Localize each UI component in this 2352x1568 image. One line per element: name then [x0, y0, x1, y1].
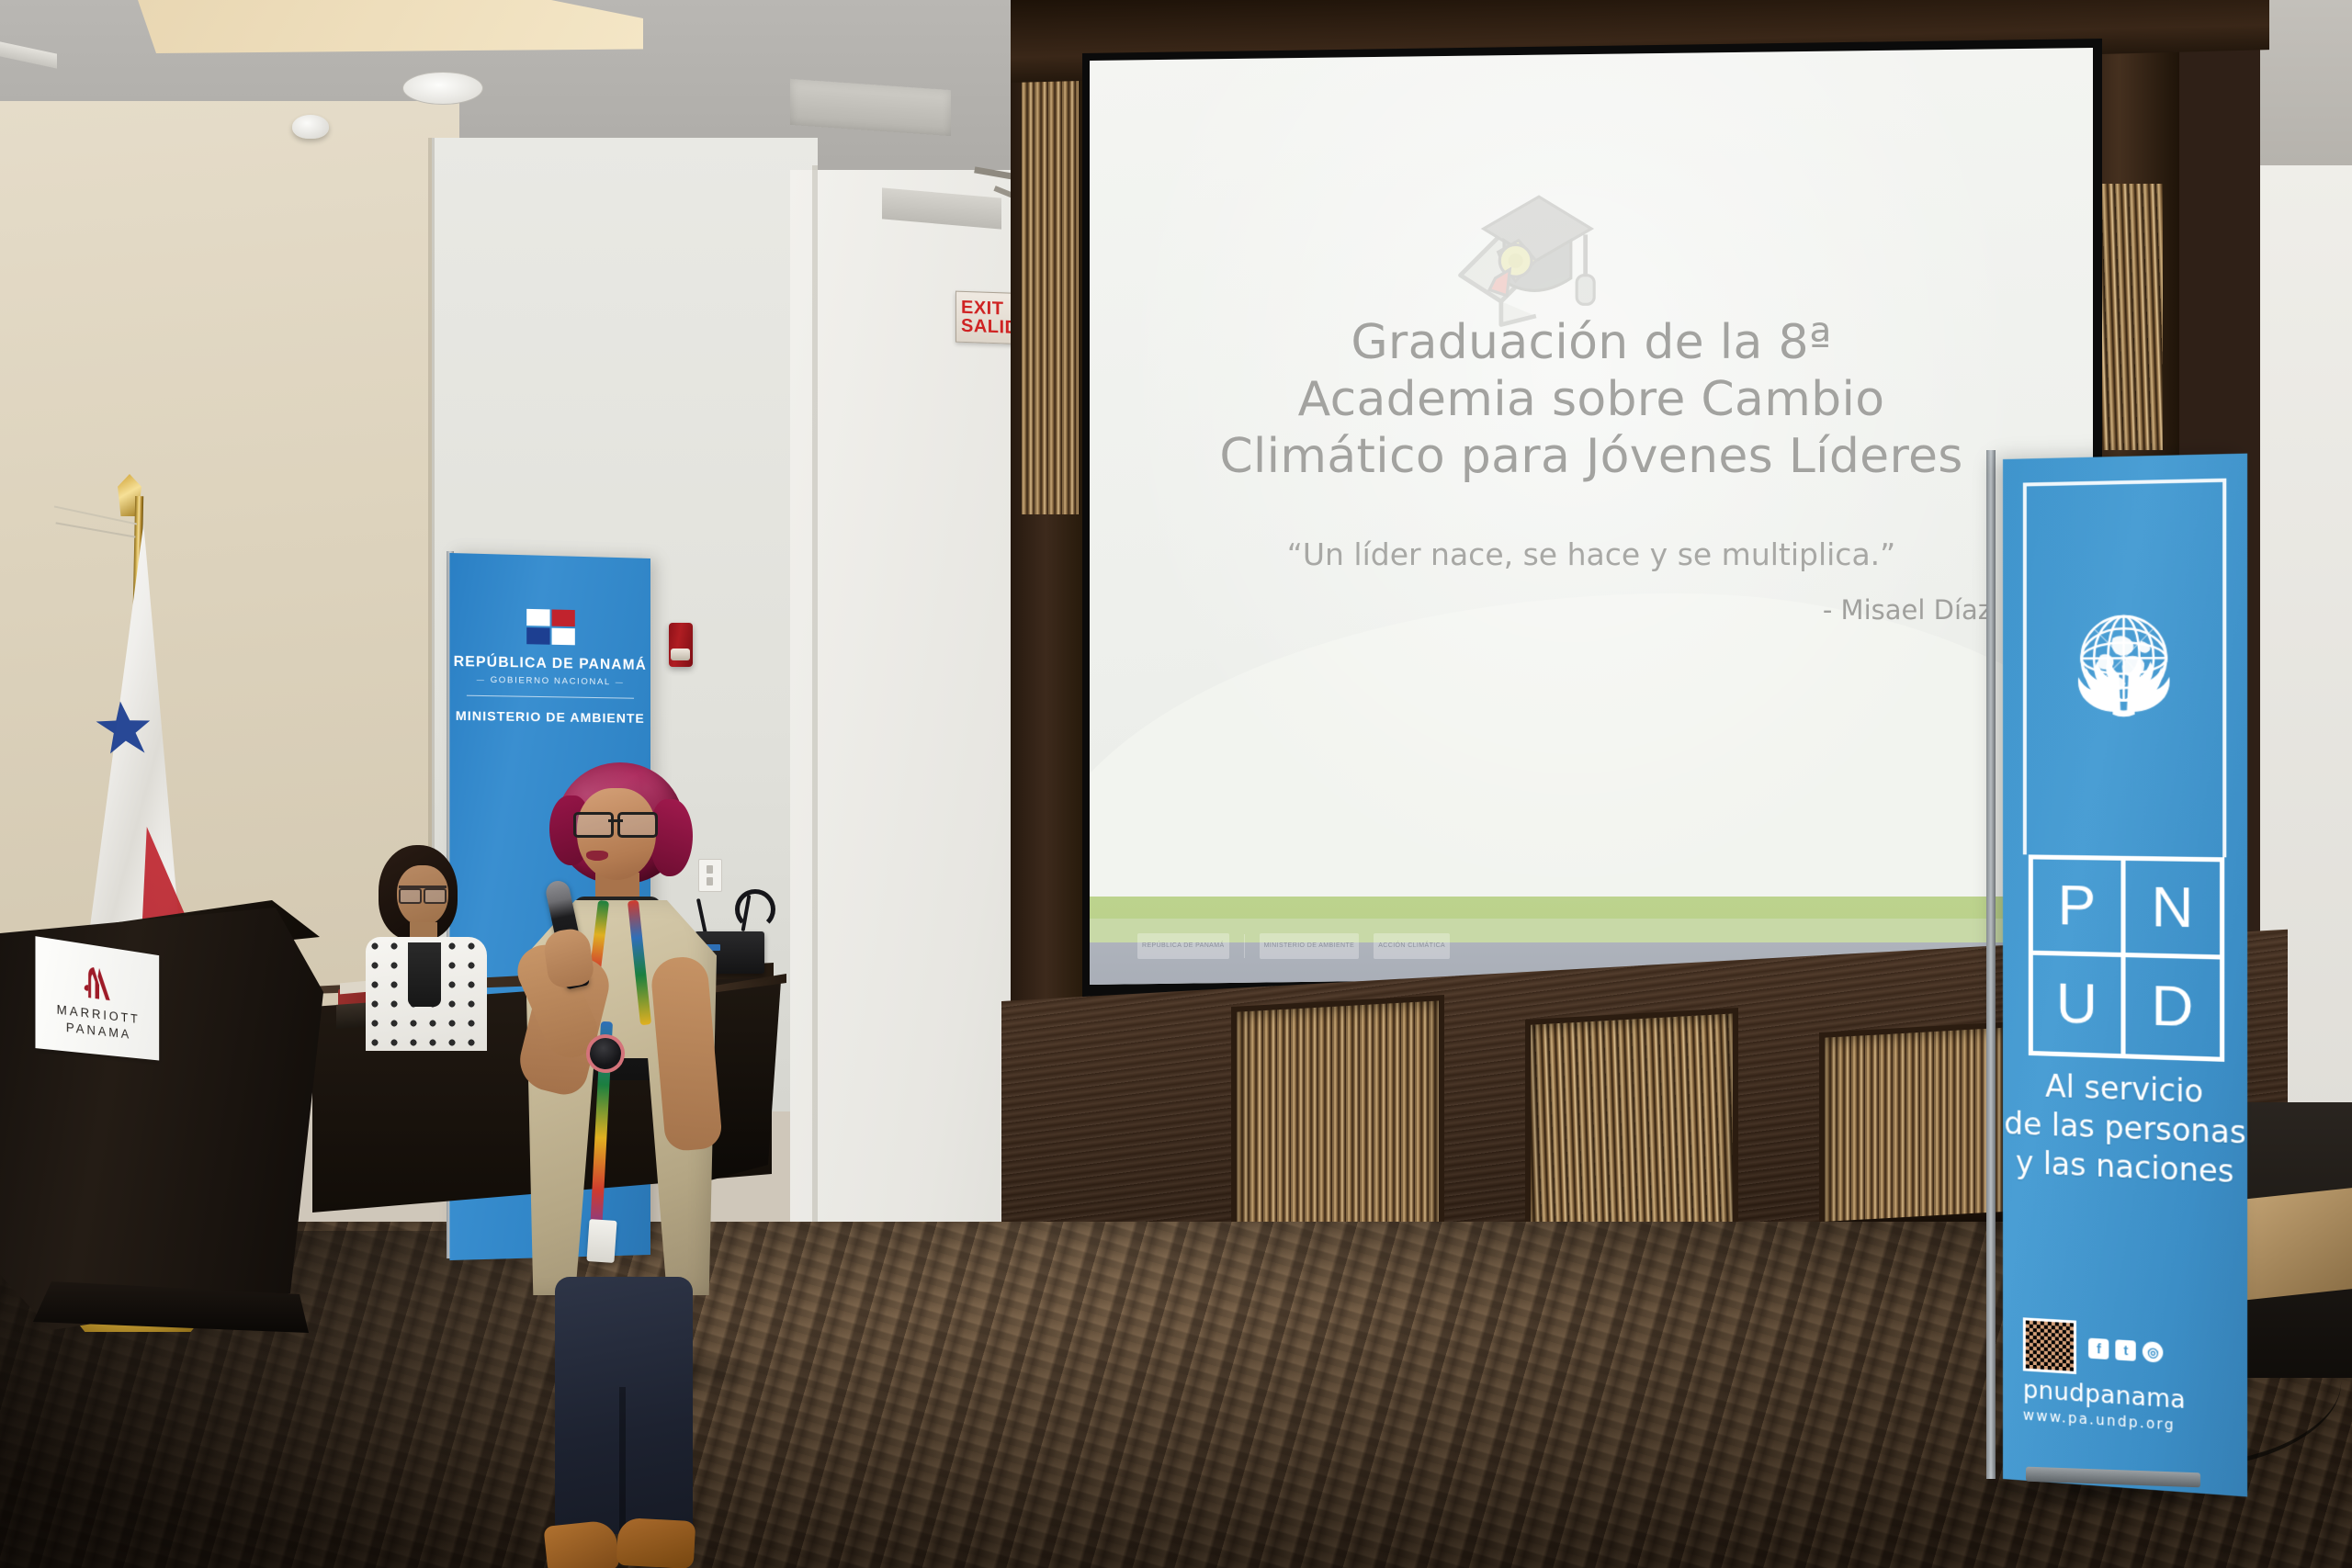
twitter-icon[interactable]: t: [2116, 1339, 2136, 1361]
slide-text-block: Graduación de la 8ª Academia sobre Cambi…: [1090, 314, 2093, 626]
pnud-banner-pole: [1986, 450, 1996, 1479]
slide-title-line-1: Graduación de la 8ª: [1154, 314, 2029, 371]
conference-room-photo: EXIT SALIDA: [0, 0, 2352, 1568]
instagram-icon[interactable]: ◎: [2143, 1341, 2163, 1363]
marriott-panama-plaque: MARRIOTT PANAMA: [35, 936, 159, 1060]
speaker-presenter: [478, 762, 753, 1387]
ministry-name: MINISTERIO DE AMBIENTE: [449, 708, 650, 726]
pnud-rollup-banner[interactable]: P N U D Al servicio de las personas y la…: [2003, 454, 2247, 1497]
speaker-boot-left: [543, 1519, 619, 1568]
ministry-divider: [467, 695, 634, 699]
cardboard-box: [2233, 1188, 2352, 1302]
flag-quad-white-1: [526, 609, 549, 626]
social-icons-row: f t ◎: [2089, 1338, 2164, 1363]
slide-title-line-2: Academia sobre Cambio: [1154, 371, 2029, 428]
facebook-icon[interactable]: f: [2089, 1338, 2109, 1360]
flag-quad-white-2: [552, 628, 575, 646]
united-nations-emblem: [2046, 585, 2203, 742]
carpet-vignette: [0, 1222, 2352, 1568]
seated-inner-top: [408, 942, 441, 1007]
slide-quote: “Un líder nace, se hace y se multiplica.…: [1090, 536, 2093, 572]
pnud-logo-grid: P N U D: [2029, 854, 2224, 1062]
pnud-letter-u: U: [2033, 955, 2126, 1055]
flag-quad-blue: [526, 627, 549, 645]
slide-logo-divider: [1244, 934, 1245, 958]
speaker-glasses-icon: [573, 812, 658, 832]
speaker-boot-right: [616, 1517, 696, 1568]
ministry-government-label: GOBIERNO NACIONAL: [449, 674, 650, 688]
slide-logo-ministerio: MINISTERIO DE AMBIENTE: [1260, 933, 1360, 959]
pnud-letter-d: D: [2126, 957, 2220, 1057]
pnud-footer: f t ◎ pnudpanama www.pa.undp.org: [2023, 1317, 2226, 1437]
projection-screen[interactable]: Graduación de la 8ª Academia sobre Cambi…: [1090, 48, 2093, 985]
panama-flag-logo: [526, 609, 575, 645]
reed-grille-right-upper: [2097, 184, 2163, 450]
recessed-ceiling-light: [402, 72, 483, 105]
slide-footer-logos: REPÚBLICA DE PANAMÁ MINISTERIO DE AMBIEN…: [1137, 933, 1450, 959]
slide-logo-accion-climatica: ACCIÓN CLIMÁTICA: [1374, 933, 1450, 959]
slide-title-line-3: Climático para Jóvenes Líderes: [1154, 428, 2029, 485]
slide-logo-republica: REPÚBLICA DE PANAMÁ: [1137, 933, 1229, 959]
slide-swoosh-white: [1090, 593, 2093, 897]
ministry-country-title: REPÚBLICA DE PANAMÁ: [449, 654, 650, 674]
marriott-m-logo: [79, 960, 119, 1004]
fire-alarm-strobe-icon: [669, 623, 693, 667]
speaker-lips: [586, 851, 608, 861]
pnud-letter-p: P: [2033, 859, 2126, 957]
seated-attendee: [366, 845, 494, 1047]
qr-code-icon[interactable]: [2023, 1317, 2076, 1374]
speaker-id-badge: [586, 1219, 616, 1263]
slide-quote-author: - Misael Díaz: [1090, 594, 2093, 626]
seated-glasses-icon: [399, 886, 447, 900]
speaker-jeans: [555, 1277, 693, 1534]
smoke-detector-icon: [292, 115, 329, 139]
wall-seam-2: [812, 165, 818, 1240]
pnud-tagline: Al servicio de las personas y las nacion…: [2003, 1066, 2247, 1192]
flag-quad-red: [552, 609, 575, 626]
pnud-letter-n: N: [2126, 861, 2220, 960]
